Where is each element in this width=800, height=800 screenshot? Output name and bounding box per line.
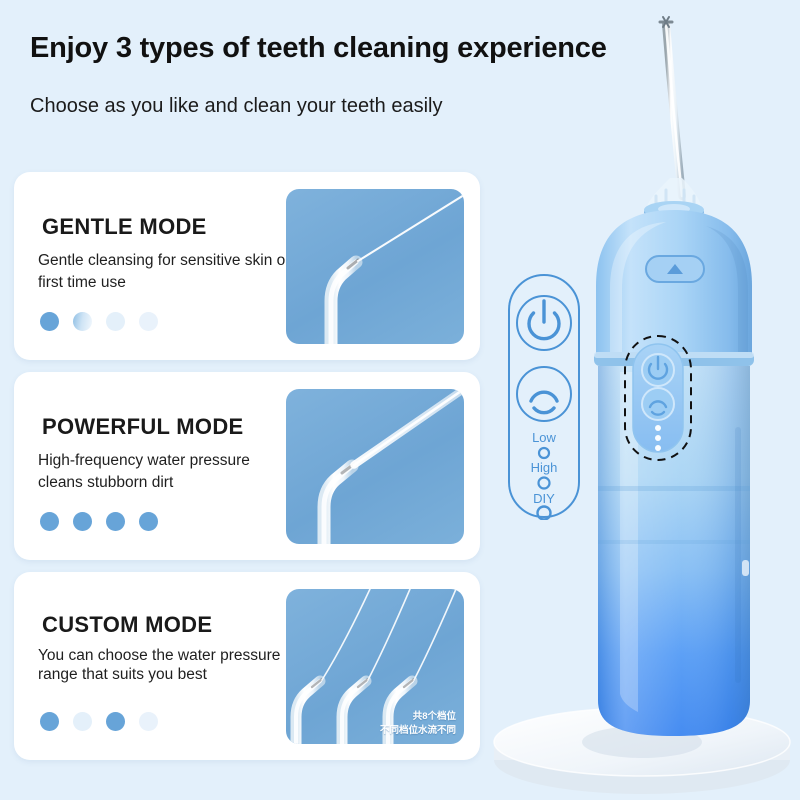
pressure-level-indicator: [40, 312, 158, 331]
card-title: POWERFUL MODE: [42, 414, 244, 440]
panel-mode-button[interactable]: [642, 388, 674, 420]
panel-led-icon: [655, 435, 661, 441]
pressure-dot: [73, 712, 92, 731]
pressure-dot: [106, 312, 125, 331]
water-stream-icon: [358, 195, 464, 261]
note-line-2: 不同档位水流不同: [380, 724, 456, 738]
note-line-1: 共8个档位: [380, 710, 456, 724]
card-thumbnail-custom: 共8个档位 不同档位水流不同: [286, 589, 464, 744]
card-description: Gentle cleansing for sensitive skin or f…: [38, 250, 293, 295]
pressure-level-indicator: [40, 712, 158, 731]
infographic-stage: Enjoy 3 types of teeth cleaning experien…: [0, 0, 800, 800]
panel-led-icon: [655, 425, 661, 431]
pressure-dot: [73, 312, 92, 331]
card-title: GENTLE MODE: [42, 214, 207, 240]
thumbnail-note: 共8个档位 不同档位水流不同: [380, 710, 456, 738]
pressure-dot: [106, 512, 125, 531]
pressure-dot: [40, 312, 59, 331]
product-head: [594, 210, 754, 366]
pressure-dot: [40, 712, 59, 731]
card-description: You can choose the water pressure range …: [38, 646, 293, 685]
card-description: High-frequency water pressure cleans stu…: [38, 450, 293, 495]
pressure-dot: [139, 312, 158, 331]
feature-card-custom-mode[interactable]: CUSTOM MODE You can choose the water pre…: [14, 572, 480, 760]
panel-led-icon: [655, 445, 661, 451]
panel-power-button[interactable]: [642, 354, 674, 386]
card-thumbnail-powerful: [286, 389, 464, 544]
pressure-dot: [139, 712, 158, 731]
pressure-dot: [106, 712, 125, 731]
release-button[interactable]: [646, 256, 704, 282]
card-title: CUSTOM MODE: [42, 612, 212, 638]
card-thumbnail-gentle: [286, 189, 464, 344]
pressure-dot: [73, 512, 92, 531]
nozzle-icon: [646, 17, 702, 210]
pressure-level-indicator: [40, 512, 158, 531]
pressure-dot: [139, 512, 158, 531]
product-image-water-flosser: [470, 0, 800, 800]
feature-card-gentle-mode[interactable]: GENTLE MODE Gentle cleansing for sensiti…: [14, 172, 480, 360]
feature-card-powerful-mode[interactable]: POWERFUL MODE High-frequency water press…: [14, 372, 480, 560]
pressure-dot: [40, 512, 59, 531]
